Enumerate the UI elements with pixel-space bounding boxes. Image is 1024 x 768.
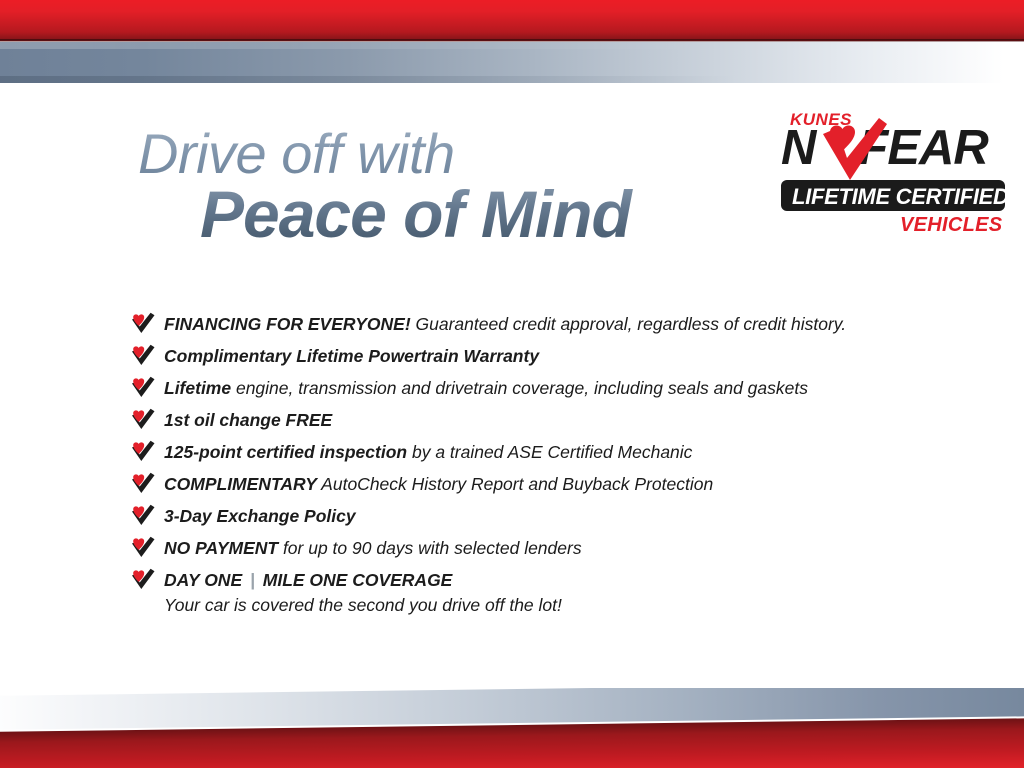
logo-vehicles-text: VEHICLES xyxy=(900,214,1002,237)
benefit-separator: | xyxy=(242,570,263,590)
heart-check-icon xyxy=(130,408,156,430)
heart-check-icon xyxy=(130,376,156,398)
benefit-item: NO PAYMENT for up to 90 days with select… xyxy=(130,532,930,564)
benefit-text: Lifetime engine, transmission and drivet… xyxy=(164,372,808,404)
benefit-text: 3-Day Exchange Policy xyxy=(164,500,356,532)
benefit-detail: Guaranteed credit approval, regardless o… xyxy=(411,314,846,334)
heart-check-icon xyxy=(130,344,156,366)
benefit-emphasis: Lifetime xyxy=(164,378,231,398)
heart-check-icon xyxy=(130,536,156,558)
benefit-text: COMPLIMENTARY AutoCheck History Report a… xyxy=(164,468,713,500)
benefit-item: DAY ONE | MILE ONE COVERAGE xyxy=(130,564,930,596)
heart-check-icon xyxy=(130,568,156,590)
kunes-no-fear-logo: KUNES NFEAR LIFETIME CERTIFIED VEHICLES xyxy=(778,110,1010,242)
benefit-text: DAY ONE | MILE ONE COVERAGE xyxy=(164,564,452,596)
heart-check-icon xyxy=(130,504,156,526)
headline-line-2: Peace of Mind xyxy=(200,178,758,250)
logo-letter-n: N xyxy=(781,121,814,175)
benefit-detail: engine, transmission and drivetrain cove… xyxy=(231,378,808,398)
benefit-emphasis: 3-Day Exchange Policy xyxy=(164,506,356,526)
top-gray-band-highlight xyxy=(0,42,1024,49)
benefit-item: 1st oil change FREE xyxy=(130,404,930,436)
logo-lifetime-certified-text: LIFETIME CERTIFIED xyxy=(792,184,1009,210)
benefit-text: FINANCING FOR EVERYONE! Guaranteed credi… xyxy=(164,308,846,340)
benefit-detail: for up to 90 days with selected lenders xyxy=(278,538,582,558)
bottom-red-band-fill xyxy=(0,718,1024,768)
heart-check-icon xyxy=(130,440,156,462)
benefit-detail: by a trained ASE Certified Mechanic xyxy=(407,442,692,462)
benefit-text: NO PAYMENT for up to 90 days with select… xyxy=(164,532,582,564)
benefit-emphasis: 125-point certified inspection xyxy=(164,442,407,462)
benefit-item: COMPLIMENTARY AutoCheck History Report a… xyxy=(130,468,930,500)
headline: Drive off with Peace of Mind xyxy=(138,124,758,250)
benefit-emphasis: 1st oil change FREE xyxy=(164,410,332,430)
benefit-emphasis: FINANCING FOR EVERYONE! xyxy=(164,314,411,334)
benefit-emphasis: COMPLIMENTARY xyxy=(164,474,317,494)
benefit-item: 3-Day Exchange Policy xyxy=(130,500,930,532)
bottom-red-band xyxy=(0,718,1024,768)
red-check-heart-icon xyxy=(817,118,891,186)
benefit-item: FINANCING FOR EVERYONE! Guaranteed credi… xyxy=(130,308,930,340)
heart-check-icon xyxy=(130,472,156,494)
benefit-subtext: Your car is covered the second you drive… xyxy=(130,593,930,617)
benefit-emphasis-2: MILE ONE COVERAGE xyxy=(263,570,453,590)
benefit-emphasis: Complimentary Lifetime Powertrain Warran… xyxy=(164,346,539,366)
benefit-emphasis: DAY ONE xyxy=(164,570,242,590)
benefit-item: Lifetime engine, transmission and drivet… xyxy=(130,372,930,404)
benefit-emphasis: NO PAYMENT xyxy=(164,538,278,558)
headline-line-1: Drive off with xyxy=(138,124,758,184)
benefit-detail: AutoCheck History Report and Buyback Pro… xyxy=(317,474,713,494)
benefit-item: 125-point certified inspection by a trai… xyxy=(130,436,930,468)
benefit-text: 125-point certified inspection by a trai… xyxy=(164,436,692,468)
top-red-band xyxy=(0,0,1024,41)
benefit-text: Complimentary Lifetime Powertrain Warran… xyxy=(164,340,539,372)
benefit-text: 1st oil change FREE xyxy=(164,404,332,436)
promo-poster: Drive off with Peace of Mind KUNES NFEAR… xyxy=(0,0,1024,768)
top-gray-band-lowlight xyxy=(0,76,1024,83)
logo-lifetime-certified-bar: LIFETIME CERTIFIED xyxy=(781,180,1005,211)
heart-check-icon xyxy=(130,312,156,334)
benefits-list: FINANCING FOR EVERYONE! Guaranteed credi… xyxy=(130,308,930,617)
benefit-item: Complimentary Lifetime Powertrain Warran… xyxy=(130,340,930,372)
